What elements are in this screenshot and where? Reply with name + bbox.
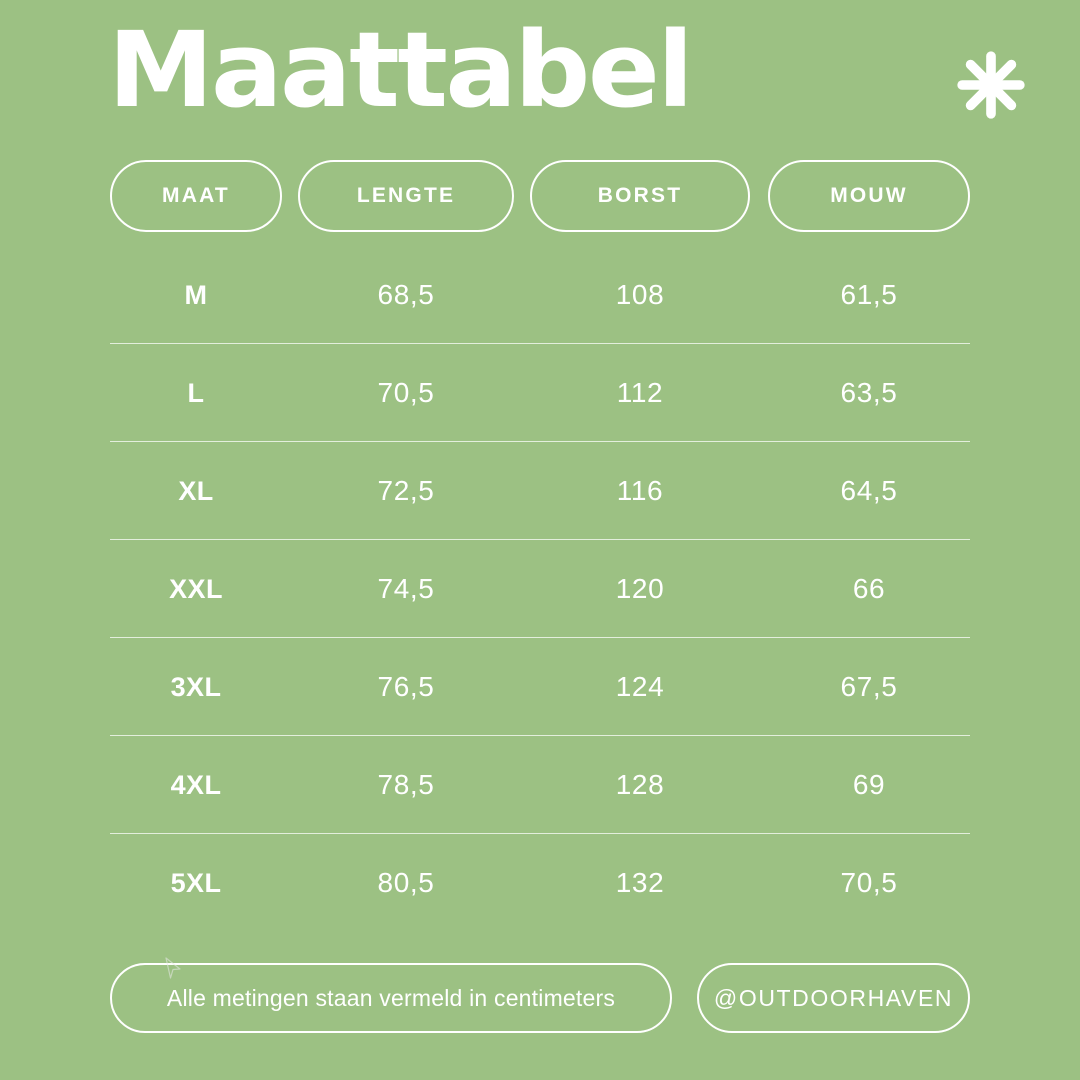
cell-borst: 128 — [530, 736, 750, 834]
cell-lengte: 70,5 — [298, 344, 514, 442]
cell-mouw: 70,5 — [768, 834, 970, 932]
cell-size: 3XL — [110, 638, 282, 736]
footer: Alle metingen staan vermeld in centimete… — [0, 963, 1080, 1033]
cell-mouw: 69 — [768, 736, 970, 834]
table-row: 3XL 76,5 124 67,5 — [0, 638, 1080, 736]
table-row: 4XL 78,5 128 69 — [0, 736, 1080, 834]
table-row: L 70,5 112 63,5 — [0, 344, 1080, 442]
cell-borst: 132 — [530, 834, 750, 932]
cell-lengte: 72,5 — [298, 442, 514, 540]
cell-mouw: 63,5 — [768, 344, 970, 442]
table-row: 5XL 80,5 132 70,5 — [0, 834, 1080, 932]
table-row: XL 72,5 116 64,5 — [0, 442, 1080, 540]
column-header-mouw[interactable]: MOUW — [768, 160, 970, 232]
cell-size: XXL — [110, 540, 282, 638]
column-header-lengte[interactable]: LENGTE — [298, 160, 514, 232]
cell-borst: 120 — [530, 540, 750, 638]
cell-lengte: 74,5 — [298, 540, 514, 638]
cell-size: M — [110, 246, 282, 344]
table-header-row: MAAT LENGTE BORST MOUW — [0, 160, 1080, 232]
cell-borst: 108 — [530, 246, 750, 344]
page-title: Maattabel — [108, 18, 691, 122]
cell-size: XL — [110, 442, 282, 540]
cell-lengte: 68,5 — [298, 246, 514, 344]
table-row: M 68,5 108 61,5 — [0, 246, 1080, 344]
cell-size: L — [110, 344, 282, 442]
size-table-body: M 68,5 108 61,5 L 70,5 112 63,5 XL 72,5 … — [0, 246, 1080, 932]
table-row: XXL 74,5 120 66 — [0, 540, 1080, 638]
cell-mouw: 61,5 — [768, 246, 970, 344]
cell-lengte: 78,5 — [298, 736, 514, 834]
cell-borst: 112 — [530, 344, 750, 442]
cell-lengte: 80,5 — [298, 834, 514, 932]
size-chart-card: Maattabel MAAT LENGTE BORST MOUW M 68,5 … — [0, 0, 1080, 1080]
asterisk-icon — [954, 48, 1028, 122]
cell-mouw: 64,5 — [768, 442, 970, 540]
cell-size: 4XL — [110, 736, 282, 834]
cell-lengte: 76,5 — [298, 638, 514, 736]
cell-borst: 116 — [530, 442, 750, 540]
cell-mouw: 66 — [768, 540, 970, 638]
brand-handle-pill[interactable]: @OUTDOORHAVEN — [697, 963, 970, 1033]
measurement-note-pill: Alle metingen staan vermeld in centimete… — [110, 963, 672, 1033]
cell-mouw: 67,5 — [768, 638, 970, 736]
column-header-borst[interactable]: BORST — [530, 160, 750, 232]
header: Maattabel — [108, 18, 1000, 128]
cell-size: 5XL — [110, 834, 282, 932]
cell-borst: 124 — [530, 638, 750, 736]
column-header-maat[interactable]: MAAT — [110, 160, 282, 232]
